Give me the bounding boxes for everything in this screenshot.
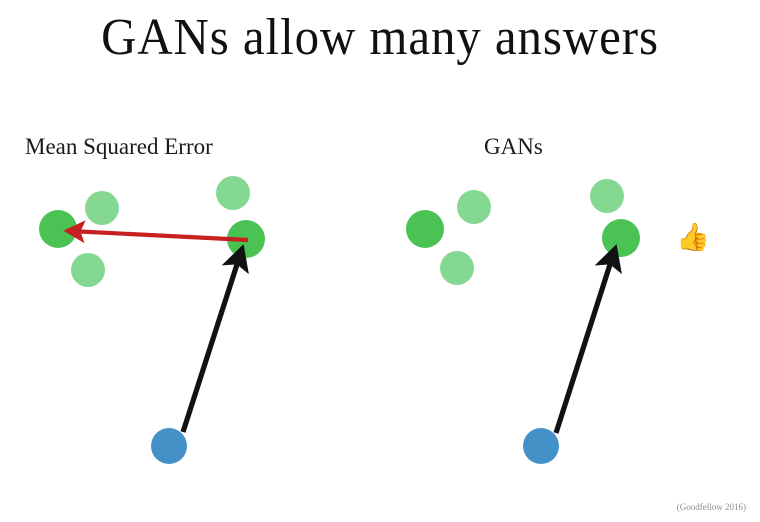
thumbs-up-icon: 👍 — [676, 220, 710, 254]
arrow-generation-gans — [556, 252, 614, 433]
slide-canvas: GANs allow many answers Mean Squared Err… — [0, 0, 760, 522]
data-point-input-latent — [151, 428, 187, 464]
page-title: GANs allow many answers — [23, 8, 737, 68]
data-point-candidate — [216, 176, 250, 210]
attribution-text: (Goodfellow 2016) — [677, 501, 746, 513]
data-point-mode — [406, 210, 444, 248]
data-point-generated-sample — [227, 220, 265, 258]
data-point-input-latent — [523, 428, 559, 464]
data-point-candidate — [457, 190, 491, 224]
arrow-generation-mse — [183, 252, 241, 432]
data-point-mode — [39, 210, 77, 248]
data-point-candidate — [590, 179, 624, 213]
data-point-candidate — [440, 251, 474, 285]
panel-label-mean-squared-error: Mean Squared Error — [25, 134, 213, 160]
arrow-mse-pull — [70, 231, 248, 240]
arrow-overlay — [0, 0, 760, 522]
data-point-candidate — [85, 191, 119, 225]
data-point-generated-sample — [602, 219, 640, 257]
data-point-candidate — [71, 253, 105, 287]
panel-label-gans: GANs — [484, 134, 543, 160]
